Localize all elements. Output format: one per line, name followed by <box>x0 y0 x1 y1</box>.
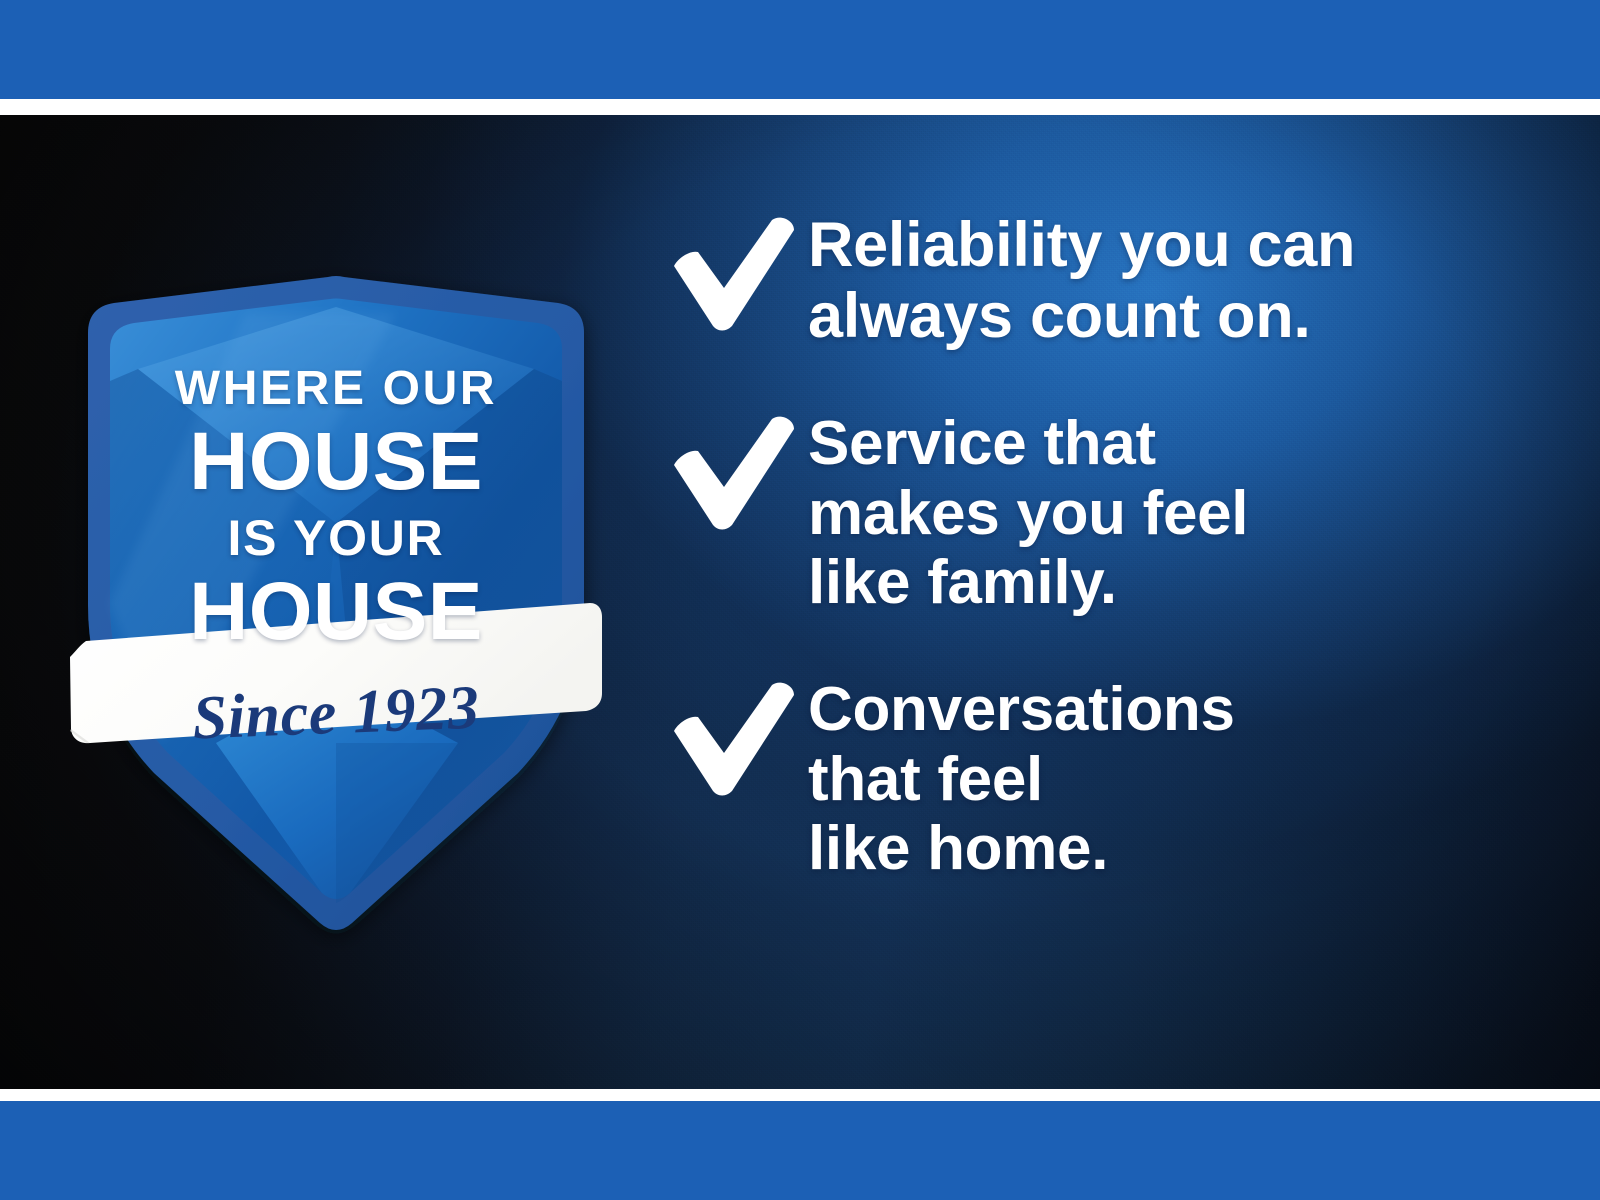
list-item-text: Conversations that feel like home. <box>808 675 1508 883</box>
shield-badge: WHERE OUR HOUSE IS YOUR HOUSE Since 1923 <box>66 273 606 943</box>
top-brand-bar <box>0 0 1600 99</box>
top-divider <box>0 99 1600 115</box>
list-item-text: Service that makes you feel like family. <box>808 409 1508 617</box>
check-icon <box>668 210 808 332</box>
bottom-brand-bar <box>0 1101 1600 1200</box>
check-icon-glyph <box>668 214 798 332</box>
check-icon <box>668 675 808 797</box>
bottom-divider <box>0 1089 1600 1101</box>
main-stage: WHERE OUR HOUSE IS YOUR HOUSE Since 1923… <box>0 115 1600 1089</box>
promo-graphic: WHERE OUR HOUSE IS YOUR HOUSE Since 1923… <box>0 0 1600 1200</box>
check-icon-glyph <box>668 679 798 797</box>
shield-badge-icon <box>66 273 606 943</box>
check-icon <box>668 409 808 531</box>
list-item: Conversations that feel like home. <box>668 675 1508 883</box>
list-item: Reliability you can always count on. <box>668 210 1508 351</box>
list-item: Service that makes you feel like family. <box>668 409 1508 617</box>
check-icon-glyph <box>668 413 798 531</box>
benefits-list: Reliability you can always count on. Ser… <box>668 210 1508 884</box>
list-item-text: Reliability you can always count on. <box>808 210 1508 351</box>
